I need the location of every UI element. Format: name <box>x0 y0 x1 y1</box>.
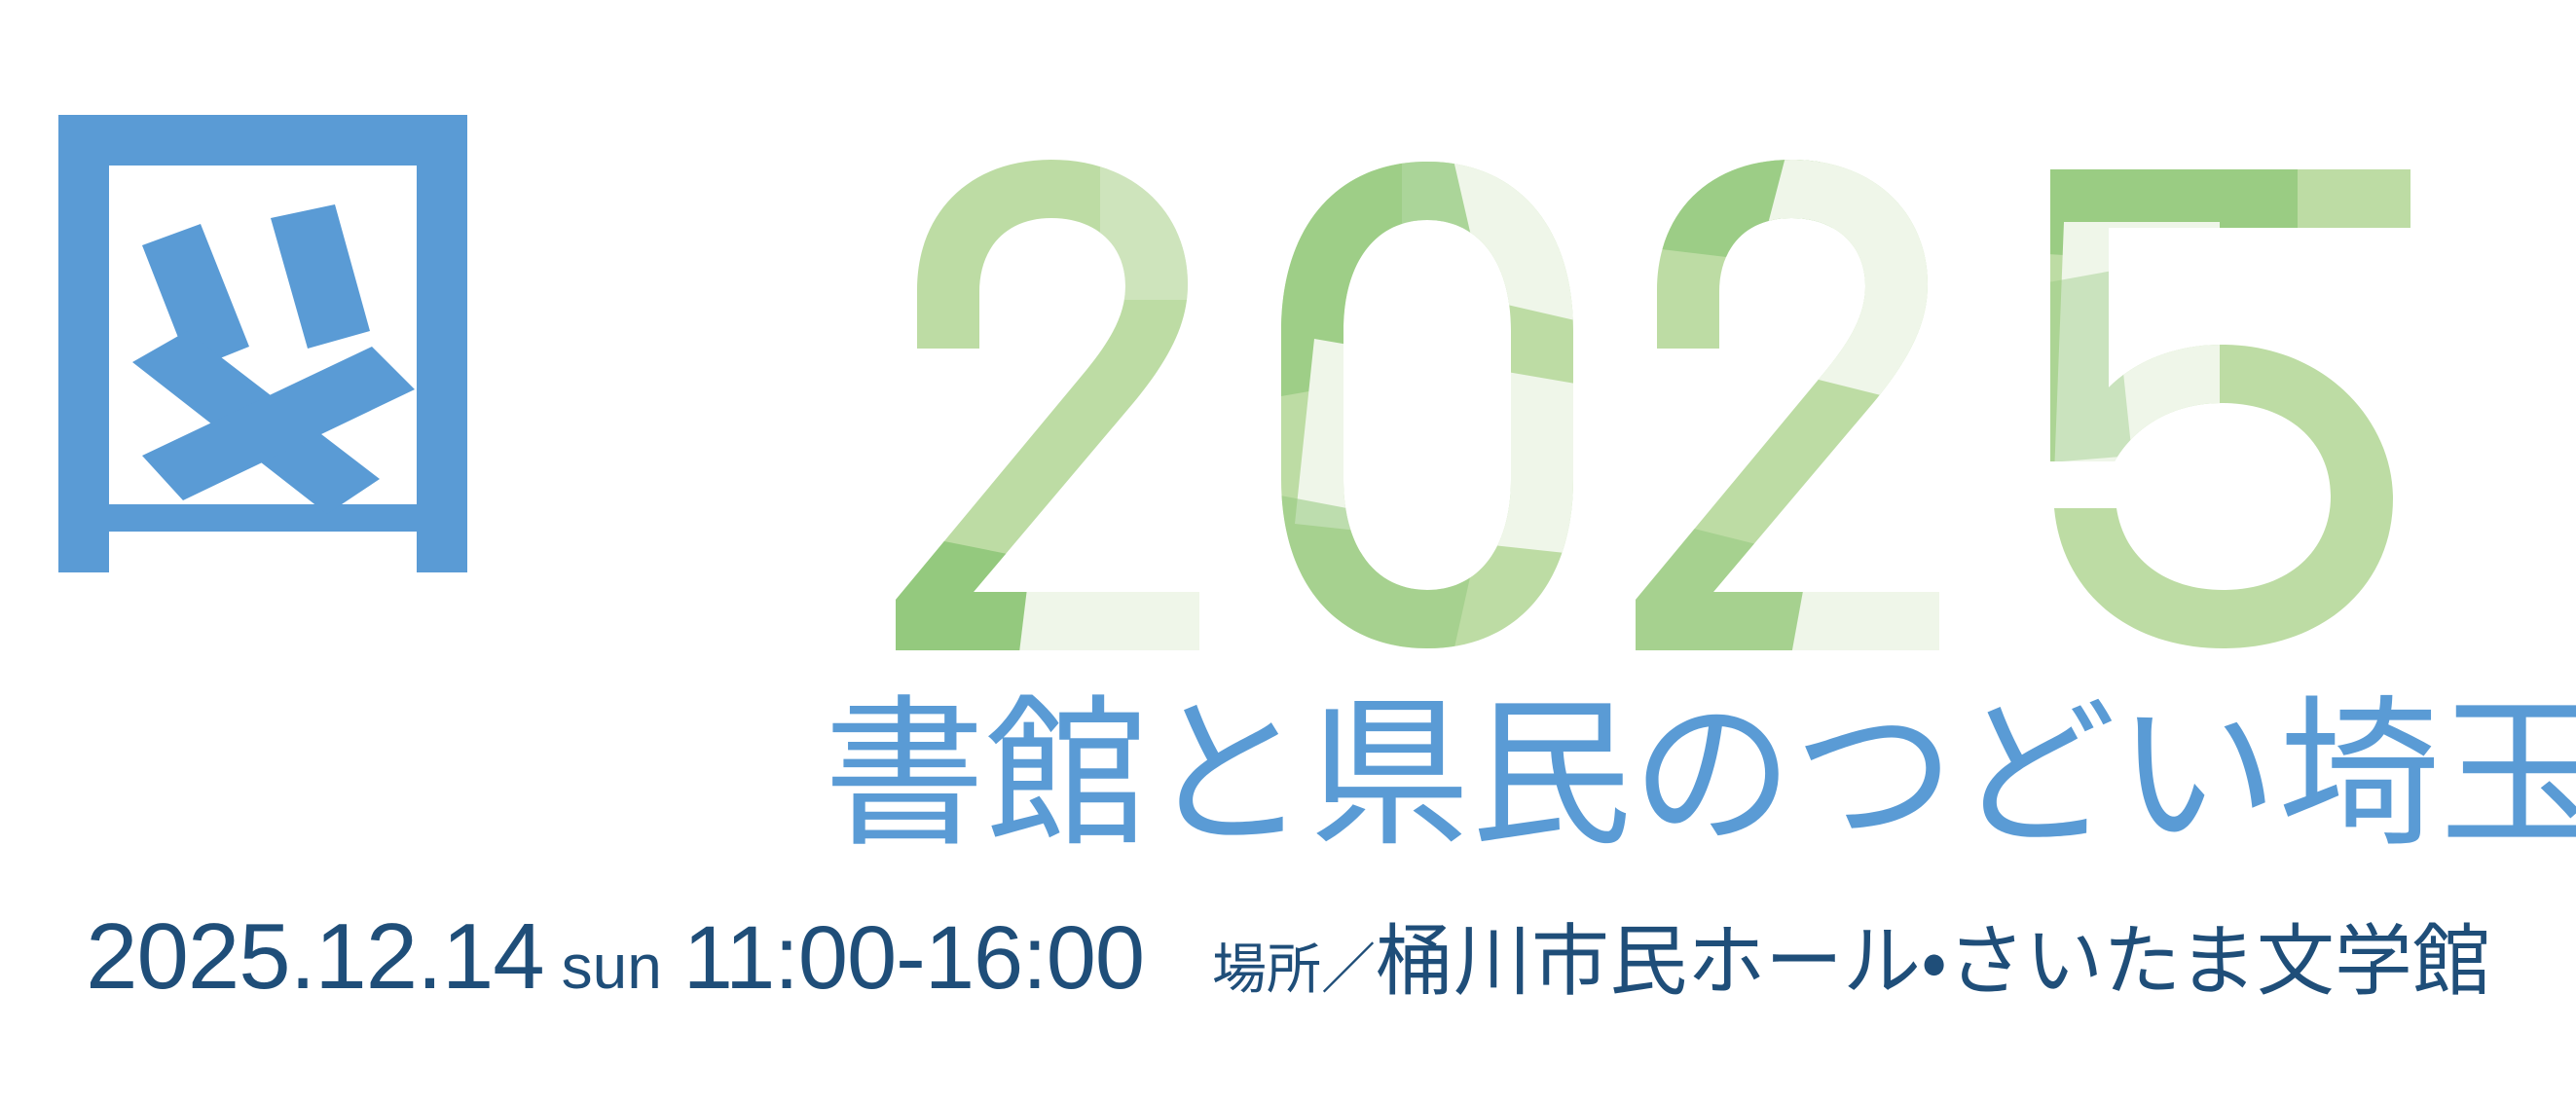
year-2025 <box>857 105 2492 650</box>
year-facets-0 <box>1266 105 1655 650</box>
zu-logo-mark <box>58 115 467 572</box>
logo-leg-left <box>58 504 109 572</box>
year-facets-5 <box>2006 105 2298 495</box>
event-time: 11:00-16:00 <box>683 913 1144 1003</box>
venue-name: 桶川市民ホール・さいたま文学館 <box>1376 923 2490 1001</box>
logo-frame-top <box>58 115 467 166</box>
venue-label: 場所／ <box>1212 943 1376 998</box>
headline-title: 書館と県民のつどい埼玉 <box>824 683 2537 878</box>
event-day-of-week: sun <box>562 936 662 998</box>
logo-frame-bottom <box>109 504 417 532</box>
logo-stroke-tsu-2 <box>271 204 370 349</box>
logo-frame-right <box>417 115 467 572</box>
logo-frame-left <box>58 115 109 572</box>
event-info-line: 2025.12.14 sun 11:00-16:00 場所／ 桶川市民ホール・さ… <box>0 910 2576 1056</box>
year-facets-2b <box>1597 105 2006 650</box>
poster-canvas: 書館と県民のつどい埼玉 2025.12.14 sun 11:00-16:00 場… <box>0 0 2576 1104</box>
logo-leg-right <box>417 504 467 572</box>
event-date: 2025.12.14 <box>86 910 543 1004</box>
